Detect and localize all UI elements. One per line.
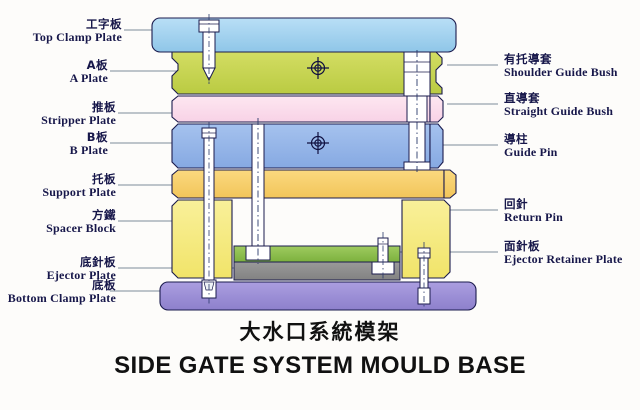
spacer-block-left: [172, 200, 232, 278]
label-en: Straight Guide Bush: [504, 105, 613, 119]
label-en: Return Pin: [504, 211, 563, 225]
label-a-plate: A板 A Plate: [70, 59, 108, 86]
label-en: B Plate: [70, 144, 108, 158]
label-en: A Plate: [70, 72, 108, 86]
plate-support: [172, 170, 456, 198]
label-en: Ejector Retainer Plate: [504, 253, 623, 267]
label-return-pin: 回針 Return Pin: [504, 198, 563, 225]
label-bottom-clamp-plate: 底板 Bottom Clamp Plate: [8, 279, 116, 306]
figure-title-cn: 大水口系統模架: [0, 316, 640, 346]
label-en: Spacer Block: [46, 222, 116, 236]
plate-top-clamp: [152, 18, 456, 52]
label-en: Bottom Clamp Plate: [8, 292, 116, 306]
figure-title: 大水口系統模架 SIDE GATE SYSTEM MOULD BASE: [0, 316, 640, 380]
label-guide-pin: 導柱 Guide Pin: [504, 133, 557, 160]
label-en: Support Plate: [42, 186, 116, 200]
label-en: Stripper Plate: [41, 114, 116, 128]
label-en: Guide Pin: [504, 146, 557, 160]
label-spacer-block: 方鐵 Spacer Block: [46, 209, 116, 236]
label-top-clamp-plate: 工字板 Top Clamp Plate: [33, 18, 122, 45]
label-ejector-retainer-plate: 面針板 Ejector Retainer Plate: [504, 240, 623, 267]
figure-title-en: SIDE GATE SYSTEM MOULD BASE: [0, 352, 640, 380]
cap-screw-spacer-right: [418, 242, 430, 310]
label-en: Shoulder Guide Bush: [504, 66, 618, 80]
label-straight-guide-bush: 直導套 Straight Guide Bush: [504, 92, 613, 119]
label-en: Top Clamp Plate: [33, 31, 122, 45]
cap-screw-b-plate: [202, 122, 216, 306]
plate-stripper: [172, 96, 443, 122]
mould-base-figure: 工字板 Top Clamp Plate A板 A Plate 推板 Stripp…: [0, 0, 640, 410]
label-shoulder-guide-bush: 有托導套 Shoulder Guide Bush: [504, 53, 618, 80]
label-support-plate: 托板 Support Plate: [42, 173, 116, 200]
label-stripper-plate: 推板 Stripper Plate: [41, 101, 116, 128]
label-b-plate: B板 B Plate: [70, 131, 108, 158]
